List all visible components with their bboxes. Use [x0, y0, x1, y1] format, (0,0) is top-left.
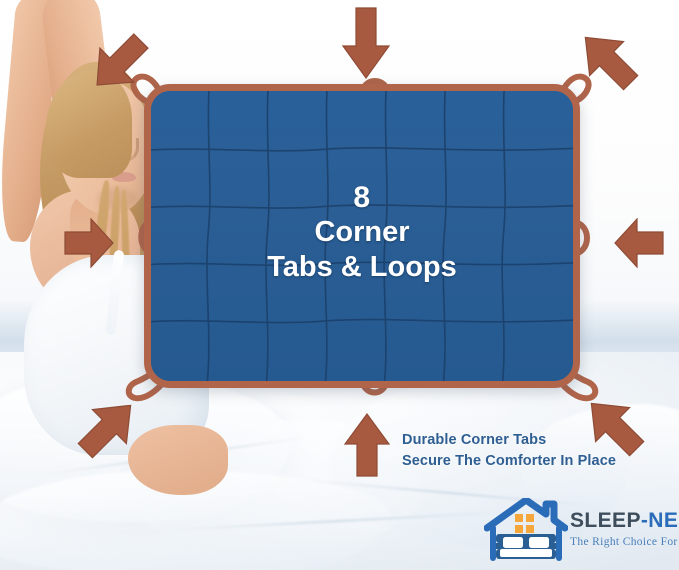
- product-marketing-image: 8 Corner Tabs & Loops: [0, 0, 679, 570]
- arrow-middle-left: [54, 218, 126, 268]
- arrow-bottom-center: [340, 412, 394, 478]
- quilted-blue-comforter: [144, 84, 580, 388]
- arrow-top-center: [337, 6, 395, 80]
- brand-tagline: The Right Choice For You: [570, 536, 679, 548]
- house-with-bed-icon: [484, 498, 568, 562]
- arrow-top-right: [572, 24, 644, 96]
- quilt-stitch-grid: [151, 91, 573, 381]
- brand-logo: SLEEP-NEST The Right Choice For You: [484, 498, 674, 564]
- brand-name: SLEEP-NEST: [570, 510, 679, 531]
- copy-line-2: Secure The Comforter In Place: [402, 451, 616, 472]
- arrow-middle-right: [602, 218, 674, 268]
- arrow-top-left: [84, 28, 154, 98]
- logo-wordmark: SLEEP-NEST The Right Choice For You: [570, 510, 679, 548]
- copy-line-1: Durable Corner Tabs: [402, 430, 616, 451]
- marketing-copy: Durable Corner Tabs Secure The Comforter…: [402, 430, 616, 471]
- brand-name-part1: SLEEP: [570, 509, 641, 532]
- brand-name-part2: -NEST: [641, 509, 679, 532]
- arrow-bottom-left: [72, 392, 144, 464]
